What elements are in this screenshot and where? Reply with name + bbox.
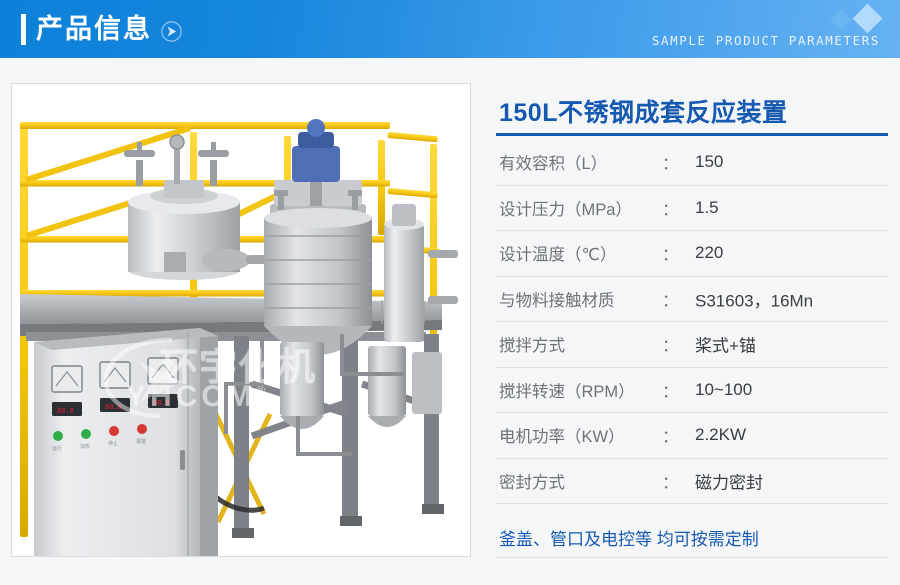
spec-row: 与物料接触材质 ： S31603，16Mn — [496, 277, 888, 323]
product-image-panel[interactable]: 88.8 88.8 88.8 运行 加热 停止 报警 — [11, 83, 471, 557]
spec-value: S31603，16Mn — [695, 286, 813, 311]
product-spec-panel: 150L不锈钢成套反应装置 有效容积（L） ： 150 设计压力（MPa） ： … — [496, 83, 888, 557]
diamond-decor-large — [853, 4, 883, 34]
spec-colon: ： — [662, 423, 679, 447]
spec-value: 1.5 — [695, 198, 719, 218]
spec-value: 220 — [695, 243, 723, 263]
product-info-page: 产品信息 SAMPLE PRODUCT PARAMETERS — [0, 0, 900, 585]
spec-row: 设计压力（MPa） ： 1.5 — [496, 186, 888, 232]
spec-row: 电机功率（KW） ： 2.2KW — [496, 413, 888, 459]
spec-row: 密封方式 ： 磁力密封 — [496, 459, 888, 505]
header-subtitle: SAMPLE PRODUCT PARAMETERS — [652, 33, 880, 48]
circle-arrow-right-icon[interactable] — [161, 21, 182, 42]
svg-text:88.8: 88.8 — [105, 403, 122, 411]
spec-colon: ： — [662, 241, 679, 265]
spec-label: 密封方式 — [499, 469, 565, 493]
svg-text:加热: 加热 — [80, 443, 90, 450]
spec-colon: ： — [662, 196, 679, 220]
svg-text:报警: 报警 — [136, 438, 146, 445]
diamond-decor-small — [830, 9, 851, 30]
spec-label: 与物料接触材质 — [499, 287, 615, 311]
spec-label: 设计温度（℃） — [499, 241, 617, 265]
svg-text:88.8: 88.8 — [57, 407, 74, 415]
spec-value: 2.2KW — [695, 425, 746, 445]
spec-value: 150 — [695, 152, 723, 172]
title-underline — [496, 133, 888, 136]
spec-colon: ： — [662, 287, 679, 311]
product-name: 150L不锈钢成套反应装置 — [499, 93, 787, 129]
spec-label: 有效容积（L） — [499, 150, 607, 174]
spec-value: 桨式+锚 — [695, 332, 756, 357]
spec-row: 搅拌转速（RPM） ： 10~100 — [496, 368, 888, 414]
product-photo: 88.8 88.8 88.8 运行 加热 停止 报警 — [12, 84, 470, 556]
spec-table: 有效容积（L） ： 150 设计压力（MPa） ： 1.5 设计温度（℃） ： … — [496, 140, 888, 504]
svg-text:运行: 运行 — [52, 445, 62, 452]
note-underline — [496, 557, 888, 558]
spec-colon: ： — [662, 150, 679, 174]
page-title: 产品信息 — [36, 9, 152, 49]
spec-colon: ： — [662, 332, 679, 356]
header-accent-bar — [21, 14, 26, 45]
spec-label: 搅拌转速（RPM） — [499, 378, 635, 402]
spec-label: 电机功率（KW） — [499, 423, 625, 447]
svg-text:88.8: 88.8 — [153, 399, 170, 407]
spec-label: 设计压力（MPa） — [499, 196, 632, 220]
spec-row: 有效容积（L） ： 150 — [496, 140, 888, 186]
svg-text:停止: 停止 — [108, 440, 118, 447]
spec-value: 磁力密封 — [695, 468, 763, 493]
spec-colon: ： — [662, 378, 679, 402]
spec-row: 设计温度（℃） ： 220 — [496, 231, 888, 277]
spec-row: 搅拌方式 ： 桨式+锚 — [496, 322, 888, 368]
page-header: 产品信息 SAMPLE PRODUCT PARAMETERS — [0, 0, 900, 58]
customization-note: 釜盖、管口及电控等 均可按需定制 — [499, 525, 759, 550]
spec-colon: ： — [662, 469, 679, 493]
spec-value: 10~100 — [695, 380, 752, 400]
spec-label: 搅拌方式 — [499, 332, 565, 356]
